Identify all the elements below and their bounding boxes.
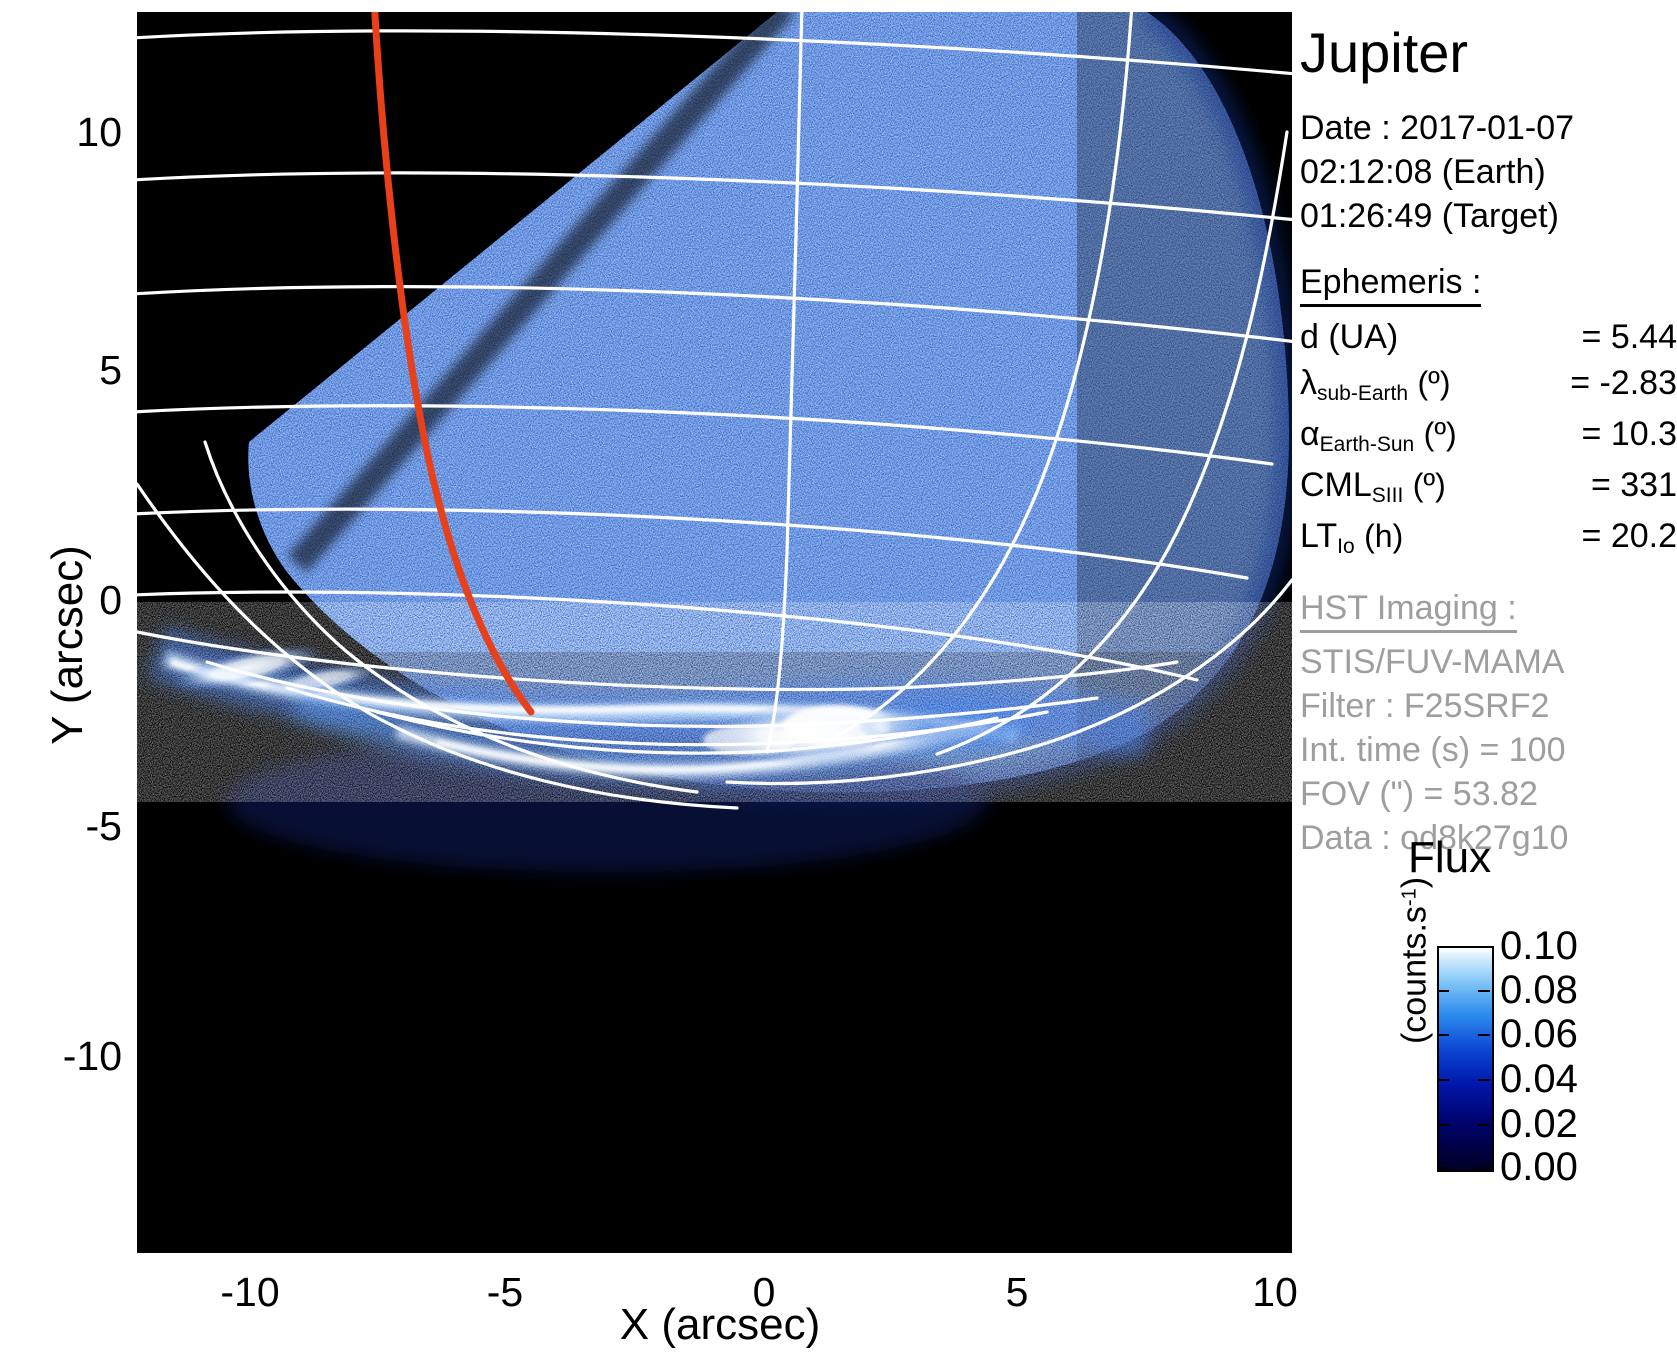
- x-tick-label: -10: [200, 1272, 300, 1313]
- observation-date: Date : 2017-01-07: [1300, 106, 1677, 150]
- ephemeris-key: α: [1300, 415, 1320, 453]
- ephemeris-row-cml: CMLSIII (º) = 331: [1300, 462, 1677, 513]
- ephemeris-unit: (º): [1424, 416, 1457, 452]
- ephemeris-row-distance: d (UA) = 5.44: [1300, 314, 1677, 360]
- colorbar-tick-label: 0.02: [1500, 1104, 1578, 1144]
- colorbar-tick: [1478, 1167, 1490, 1169]
- ephemeris-subscript: SIII: [1372, 484, 1404, 507]
- ephemeris-value: = 5.44: [1582, 314, 1677, 360]
- ephemeris-unit: (h): [1364, 518, 1403, 554]
- ephemeris-value: = -2.83: [1570, 360, 1677, 406]
- colorbar-tick-label: 0.04: [1500, 1059, 1578, 1099]
- info-panel: Jupiter Date : 2017-01-07 02:12:08 (Eart…: [1300, 8, 1677, 860]
- colorbar-tick-label: 0.06: [1500, 1014, 1578, 1054]
- jupiter-image-panel: [137, 12, 1292, 1253]
- ephemeris-unit: (º): [1413, 467, 1446, 503]
- x-axis-title: X (arcsec): [470, 1300, 970, 1350]
- colorbar-tick: [1437, 1124, 1449, 1126]
- colorbar-unit-label: (counts.s-1): [1396, 841, 1435, 1081]
- southern-auroral-oval: [137, 602, 1292, 802]
- hst-field-of-view: FOV (") = 53.82: [1300, 772, 1677, 816]
- hst-imaging-section: HST Imaging : STIS/FUV-MAMA Filter : F25…: [1300, 588, 1677, 860]
- colorbar-tick-label: 0.00: [1500, 1147, 1578, 1187]
- ephemeris-value: = 10.3: [1582, 411, 1677, 457]
- x-tick-label: 0: [722, 1272, 806, 1313]
- y-tick-label: 10: [60, 112, 122, 153]
- target-name: Jupiter: [1300, 22, 1677, 84]
- colorbar-tick-label: 0.10: [1500, 926, 1578, 966]
- ephemeris-value: = 331: [1591, 462, 1677, 508]
- ephemeris-key: λ: [1300, 364, 1317, 402]
- colorbar-tick: [1437, 990, 1449, 992]
- y-tick-label: -5: [48, 806, 122, 847]
- colorbar-tick: [1478, 1034, 1490, 1036]
- colorbar-tick: [1478, 990, 1490, 992]
- hst-instrument: STIS/FUV-MAMA: [1300, 640, 1677, 684]
- hst-filter: Filter : F25SRF2: [1300, 684, 1677, 728]
- colorbar-tick: [1437, 1034, 1449, 1036]
- colorbar-tick: [1437, 1167, 1449, 1169]
- colorbar-tick: [1478, 1079, 1490, 1081]
- colorbar-tick: [1437, 946, 1449, 948]
- ephemeris-value: = 20.2: [1582, 513, 1677, 559]
- observation-time-earth: 02:12:08 (Earth): [1300, 150, 1677, 194]
- ephemeris-unit: (º): [1418, 365, 1451, 401]
- observation-time-target: 01:26:49 (Target): [1300, 194, 1677, 238]
- ephemeris-row-phase-angle: αEarth-Sun (º) = 10.3: [1300, 411, 1677, 462]
- colorbar-panel: Flux 0.10 0.08 0.06 0.04 0.02 0.00 (coun…: [1300, 836, 1677, 1196]
- ephemeris-subscript: Io: [1337, 535, 1355, 558]
- ephemeris-subscript: sub-Earth: [1317, 382, 1408, 405]
- hst-integration-time: Int. time (s) = 100: [1300, 728, 1677, 772]
- colorbar-unit-close: ): [1396, 877, 1434, 888]
- hst-imaging-heading: HST Imaging :: [1300, 588, 1517, 633]
- ephemeris-key: d (UA): [1300, 318, 1398, 356]
- ephemeris-heading: Ephemeris :: [1300, 262, 1481, 307]
- y-tick-label: -10: [34, 1036, 122, 1077]
- colorbar-unit-text: (counts.s: [1396, 906, 1434, 1044]
- ephemeris-key: LT: [1300, 517, 1337, 555]
- colorbar-unit-exponent: -1: [1399, 888, 1421, 906]
- jupiter-fuv-image: [137, 12, 1292, 1253]
- ephemeris-row-sub-earth-latitude: λsub-Earth (º) = -2.83: [1300, 360, 1677, 411]
- ephemeris-row-io-local-time: LTIo (h) = 20.2: [1300, 513, 1677, 564]
- colorbar-tick-label: 0.08: [1500, 970, 1578, 1010]
- colorbar-gradient: [1437, 946, 1494, 1172]
- x-tick-label: -5: [460, 1272, 550, 1313]
- colorbar-tick: [1437, 1079, 1449, 1081]
- x-tick-label: 5: [975, 1272, 1059, 1313]
- x-tick-label: 10: [1228, 1272, 1322, 1313]
- colorbar-tick: [1478, 946, 1490, 948]
- y-tick-label: 0: [60, 580, 122, 621]
- ephemeris-key: CML: [1300, 466, 1372, 504]
- y-axis-title: Y (arcsec): [43, 485, 93, 805]
- colorbar-tick: [1478, 1124, 1490, 1126]
- ephemeris-section: Ephemeris : d (UA) = 5.44 λsub-Earth (º)…: [1300, 262, 1677, 564]
- ephemeris-subscript: Earth-Sun: [1320, 433, 1415, 456]
- y-tick-label: 5: [60, 350, 122, 391]
